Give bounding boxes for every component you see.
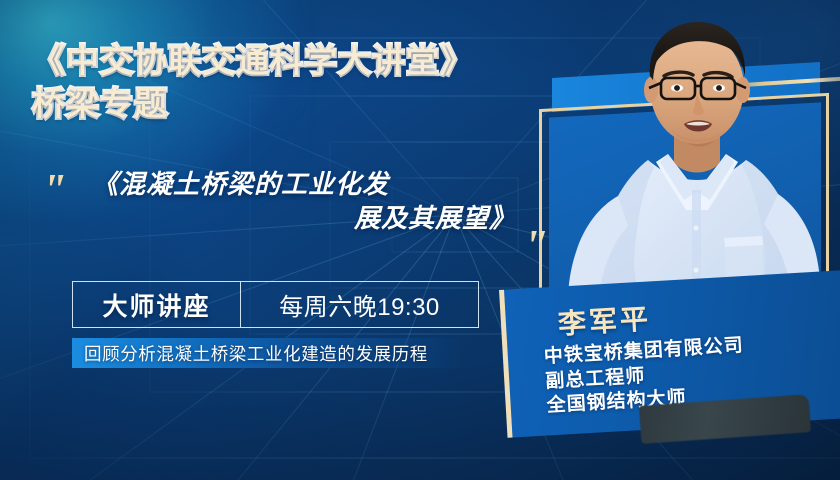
quote-line-2: 展及其展望》 [92, 202, 520, 236]
headline-line-2: 桥梁专题 [32, 87, 474, 121]
page-title: 《中交协联交通科学大讲堂》 桥梁专题 [32, 44, 474, 120]
master-lecture-schedule-cell: 每周六晚19:30 [241, 282, 478, 327]
master-lecture-label-cell: 大师讲座 [73, 282, 241, 327]
master-lecture-box: 大师讲座 每周六晚19:30 [72, 281, 479, 328]
quote-close-mark: " [524, 224, 548, 268]
quote-line-1: 《混凝土桥梁的工业化发 [92, 168, 520, 202]
lecture-poster: 《中交协联交通科学大讲堂》 桥梁专题 " 《混凝土桥梁的工业化发 展及其展望》 … [0, 0, 840, 480]
lecture-topic-quote: " 《混凝土桥梁的工业化发 展及其展望》 " [40, 168, 520, 236]
master-lecture-label: 大师讲座 [102, 287, 210, 323]
subtitle-band: 回顾分析混凝土桥梁工业化建造的发展历程 [72, 338, 464, 368]
master-lecture-schedule: 每周六晚19:30 [279, 287, 440, 322]
subtitle-text: 回顾分析混凝土桥梁工业化建造的发展历程 [84, 341, 428, 366]
quote-text: 《混凝土桥梁的工业化发 展及其展望》 [92, 168, 520, 236]
quote-open-mark: " [42, 168, 66, 212]
headline-line-1: 《中交协联交通科学大讲堂》 [32, 44, 474, 78]
